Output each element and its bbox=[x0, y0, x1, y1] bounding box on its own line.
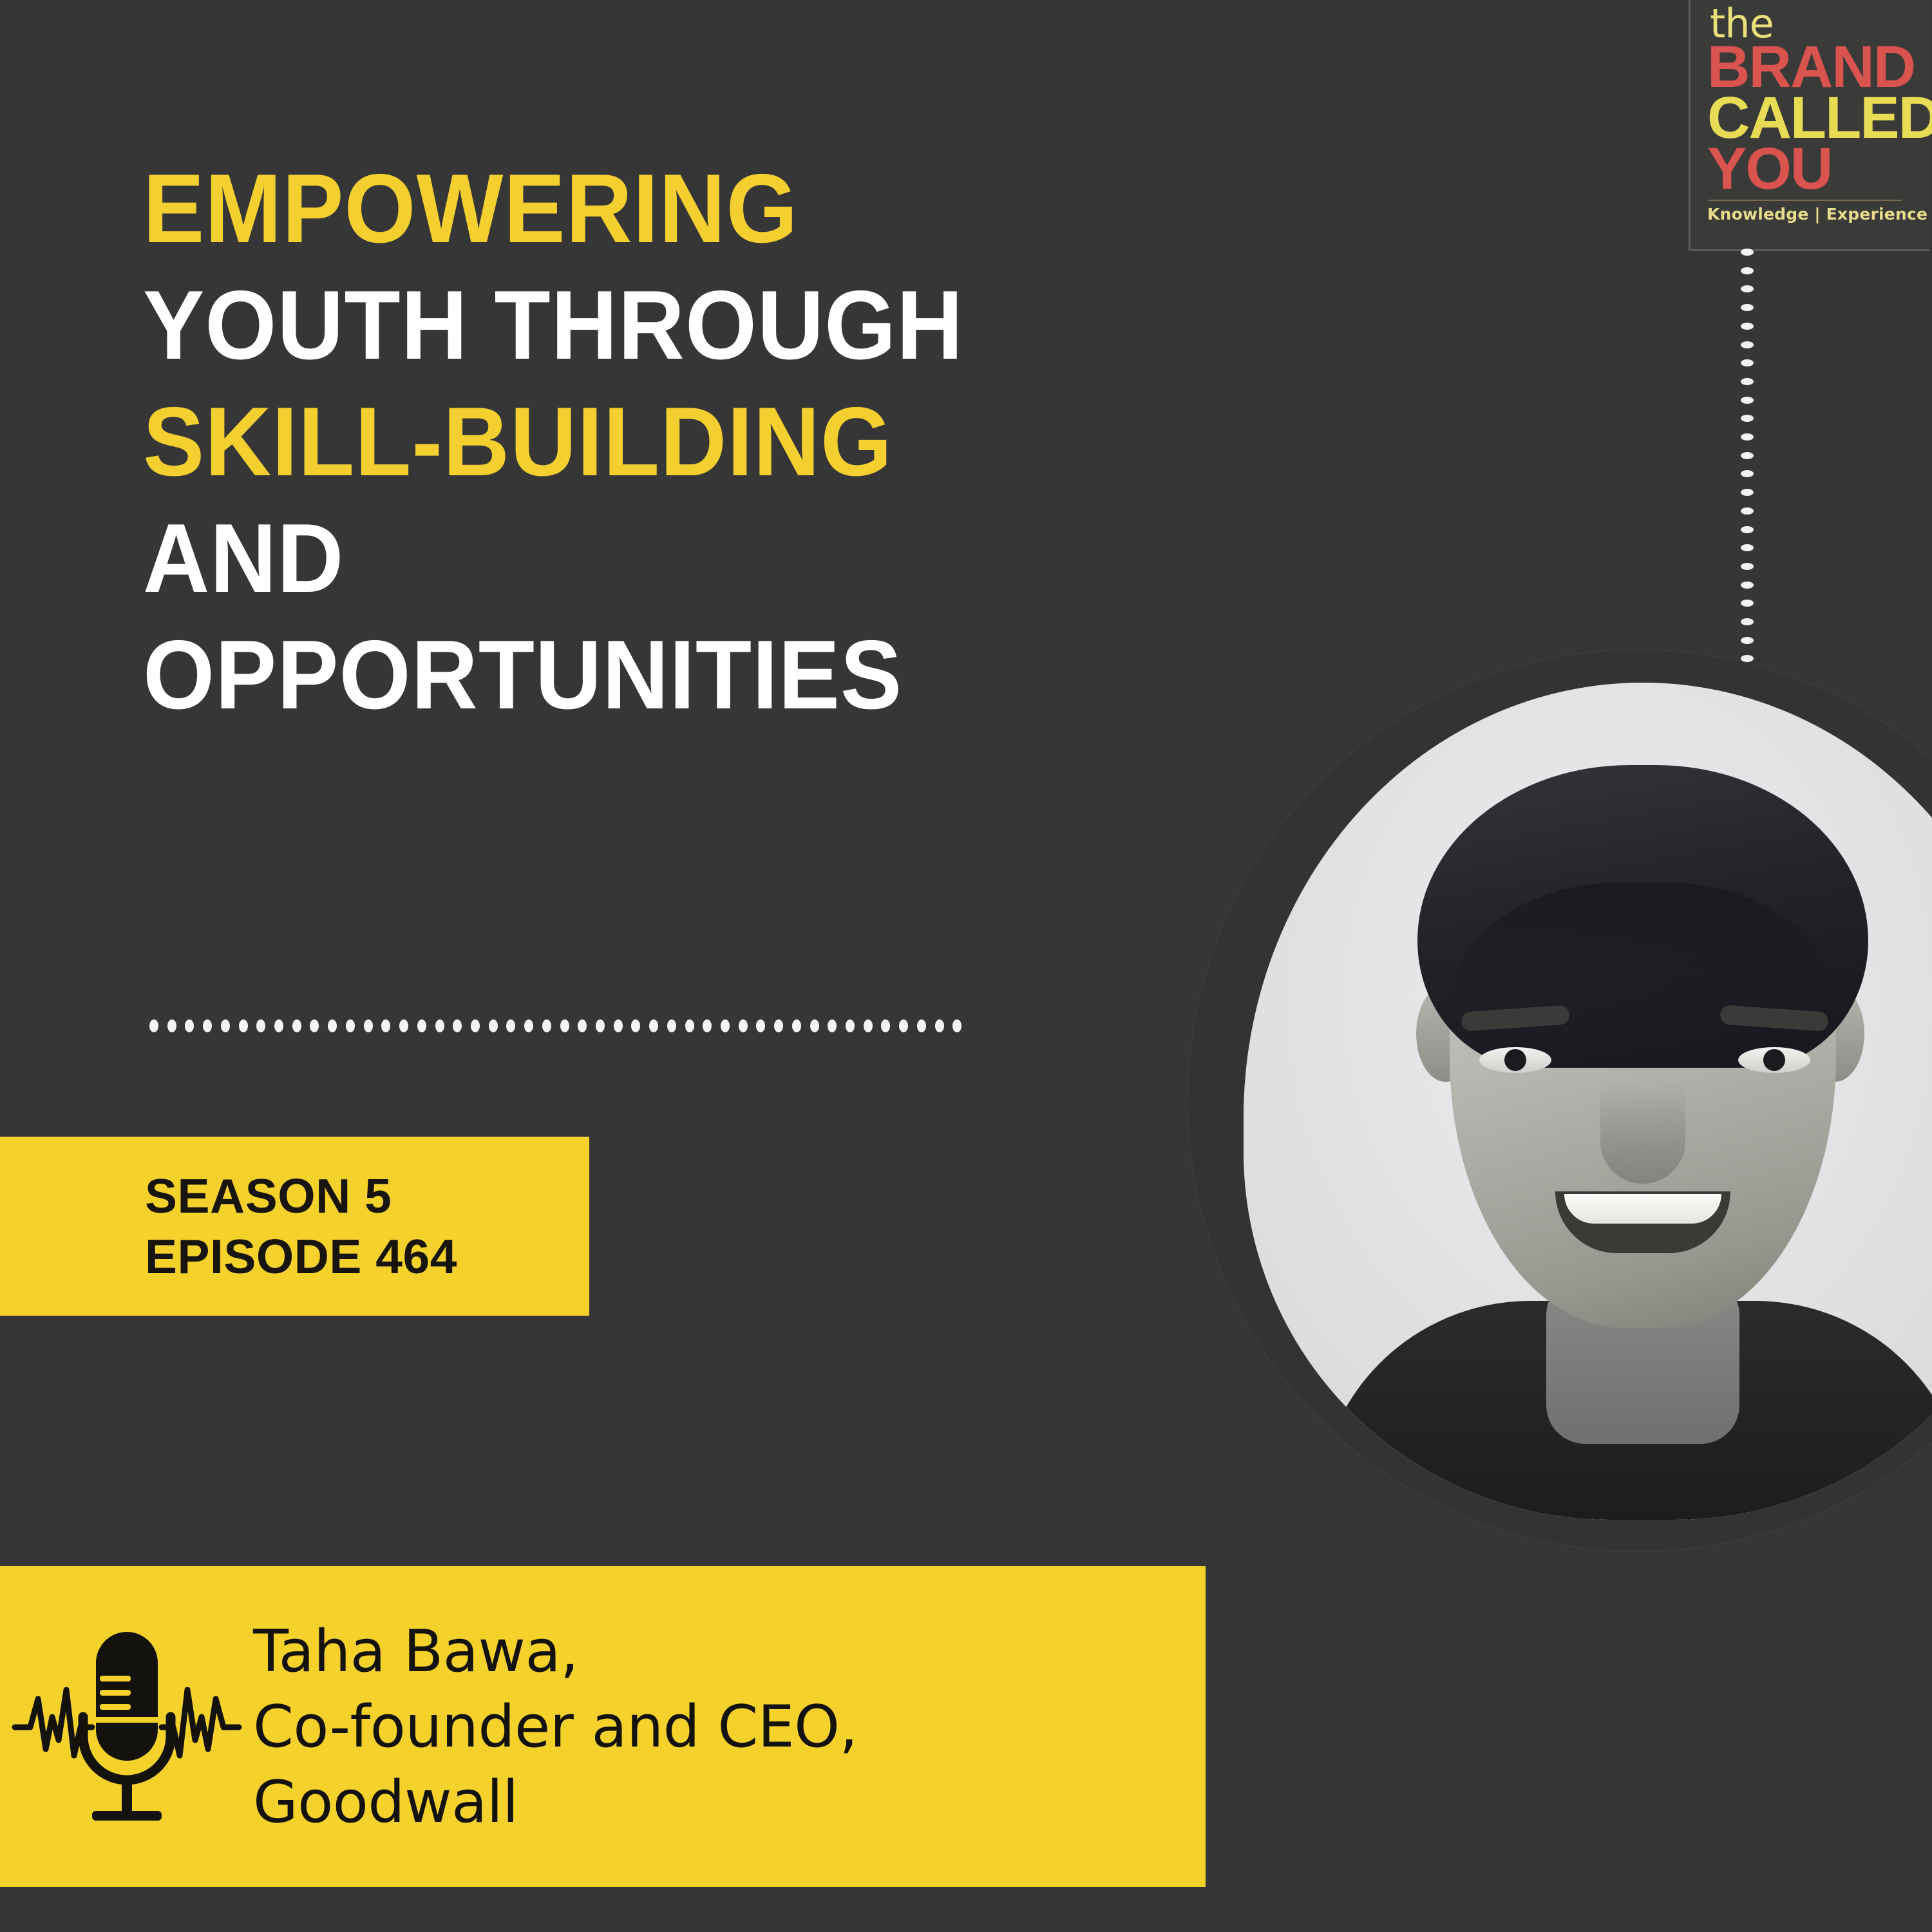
dot bbox=[774, 1019, 783, 1032]
dot bbox=[364, 1019, 373, 1032]
season-label: SEASON 5 bbox=[145, 1166, 392, 1227]
logo-tagline: Knowledge | Experience | Wisdom bbox=[1707, 205, 1932, 223]
dot bbox=[899, 1019, 908, 1032]
dot bbox=[185, 1019, 194, 1032]
dot bbox=[1741, 397, 1754, 404]
dot bbox=[274, 1019, 283, 1032]
dot bbox=[417, 1019, 426, 1032]
dot bbox=[1741, 582, 1754, 589]
podcast-cover-art: the BRAND CALLED YOU Knowledge | Experie… bbox=[0, 0, 1932, 1932]
brand-logo: the BRAND CALLED YOU Knowledge | Experie… bbox=[1689, 0, 1929, 251]
dot bbox=[1741, 600, 1754, 607]
dot bbox=[1741, 304, 1754, 311]
dot bbox=[1741, 637, 1754, 644]
title-line-1: EMPOWERING bbox=[143, 160, 1208, 258]
dot bbox=[1741, 378, 1754, 385]
guest-name: Taha Bawa, bbox=[253, 1614, 1206, 1689]
guest-info-bar: Taha Bawa, Co-founder and CEO, Goodwall bbox=[0, 1566, 1206, 1887]
dot bbox=[239, 1019, 248, 1032]
dot bbox=[952, 1019, 961, 1032]
logo-divider-rule bbox=[1709, 200, 1902, 201]
dot bbox=[1741, 359, 1754, 366]
title-line-4: AND bbox=[143, 509, 1208, 607]
microphone-waveform-icon bbox=[0, 1620, 248, 1833]
dot bbox=[828, 1019, 837, 1032]
title-line-5: OPPORTUNITIES bbox=[143, 626, 1208, 724]
dot bbox=[435, 1019, 444, 1032]
dot bbox=[1741, 470, 1754, 477]
dot bbox=[292, 1019, 301, 1032]
dot bbox=[703, 1019, 712, 1032]
dot bbox=[578, 1019, 587, 1032]
dot bbox=[399, 1019, 408, 1032]
dot bbox=[310, 1019, 319, 1032]
dot bbox=[881, 1019, 890, 1032]
dot bbox=[1741, 526, 1754, 533]
dot bbox=[1741, 341, 1754, 348]
logo-word-you: YOU bbox=[1707, 144, 1832, 194]
portrait-teeth bbox=[1564, 1194, 1721, 1224]
dot bbox=[756, 1019, 765, 1032]
dot bbox=[1741, 267, 1754, 274]
dot bbox=[792, 1019, 801, 1032]
dot bbox=[1741, 285, 1754, 292]
dot bbox=[346, 1019, 355, 1032]
guest-portrait bbox=[1188, 650, 1932, 1551]
portrait-photo bbox=[1244, 683, 1932, 1520]
season-episode-badge: SEASON 5 EPISODE 464 bbox=[0, 1137, 589, 1316]
dot bbox=[846, 1019, 855, 1032]
dot bbox=[864, 1019, 873, 1032]
title-line-2: YOUTH THROUGH bbox=[143, 276, 1208, 374]
dot bbox=[489, 1019, 498, 1032]
dot bbox=[810, 1019, 819, 1032]
guest-details: Taha Bawa, Co-founder and CEO, Goodwall bbox=[248, 1614, 1206, 1840]
dot bbox=[649, 1019, 658, 1032]
dot bbox=[1741, 563, 1754, 570]
dot bbox=[917, 1019, 926, 1032]
portrait-nose bbox=[1600, 1083, 1685, 1184]
dot bbox=[381, 1019, 390, 1032]
dot bbox=[328, 1019, 337, 1032]
dot bbox=[1741, 415, 1754, 422]
episode-label: EPISODE 464 bbox=[145, 1226, 457, 1287]
dot bbox=[596, 1019, 605, 1032]
dot bbox=[1741, 618, 1754, 625]
dot bbox=[739, 1019, 748, 1032]
dot bbox=[506, 1019, 515, 1032]
dot bbox=[542, 1019, 551, 1032]
dot bbox=[1741, 249, 1754, 256]
vertical-dotted-connector bbox=[1739, 249, 1756, 699]
dot bbox=[1741, 433, 1754, 440]
dot bbox=[1741, 452, 1754, 459]
portrait-eye-right bbox=[1738, 1047, 1810, 1073]
dot bbox=[631, 1019, 640, 1032]
dot bbox=[721, 1019, 730, 1032]
title-line-3: SKILL-BUILDING bbox=[143, 393, 1208, 491]
dot bbox=[203, 1019, 212, 1032]
dot bbox=[149, 1019, 158, 1032]
dot bbox=[1741, 489, 1754, 496]
dot bbox=[1741, 323, 1754, 330]
dot bbox=[167, 1019, 176, 1032]
dot bbox=[685, 1019, 694, 1032]
dot bbox=[256, 1019, 265, 1032]
dot bbox=[471, 1019, 480, 1032]
dot bbox=[560, 1019, 569, 1032]
dot bbox=[667, 1019, 676, 1032]
portrait-eye-left bbox=[1479, 1047, 1551, 1073]
dot bbox=[614, 1019, 623, 1032]
dot bbox=[524, 1019, 533, 1032]
episode-title: EMPOWERING YOUTH THROUGH SKILL-BUILDING … bbox=[143, 160, 1276, 743]
dot bbox=[935, 1019, 944, 1032]
title-dotted-divider bbox=[149, 1019, 962, 1033]
dot bbox=[1741, 507, 1754, 515]
dot bbox=[453, 1019, 462, 1032]
dot bbox=[1741, 544, 1754, 551]
dot bbox=[221, 1019, 230, 1032]
guest-role: Co-founder and CEO, bbox=[253, 1689, 1206, 1765]
guest-company: Goodwall bbox=[253, 1765, 1206, 1840]
